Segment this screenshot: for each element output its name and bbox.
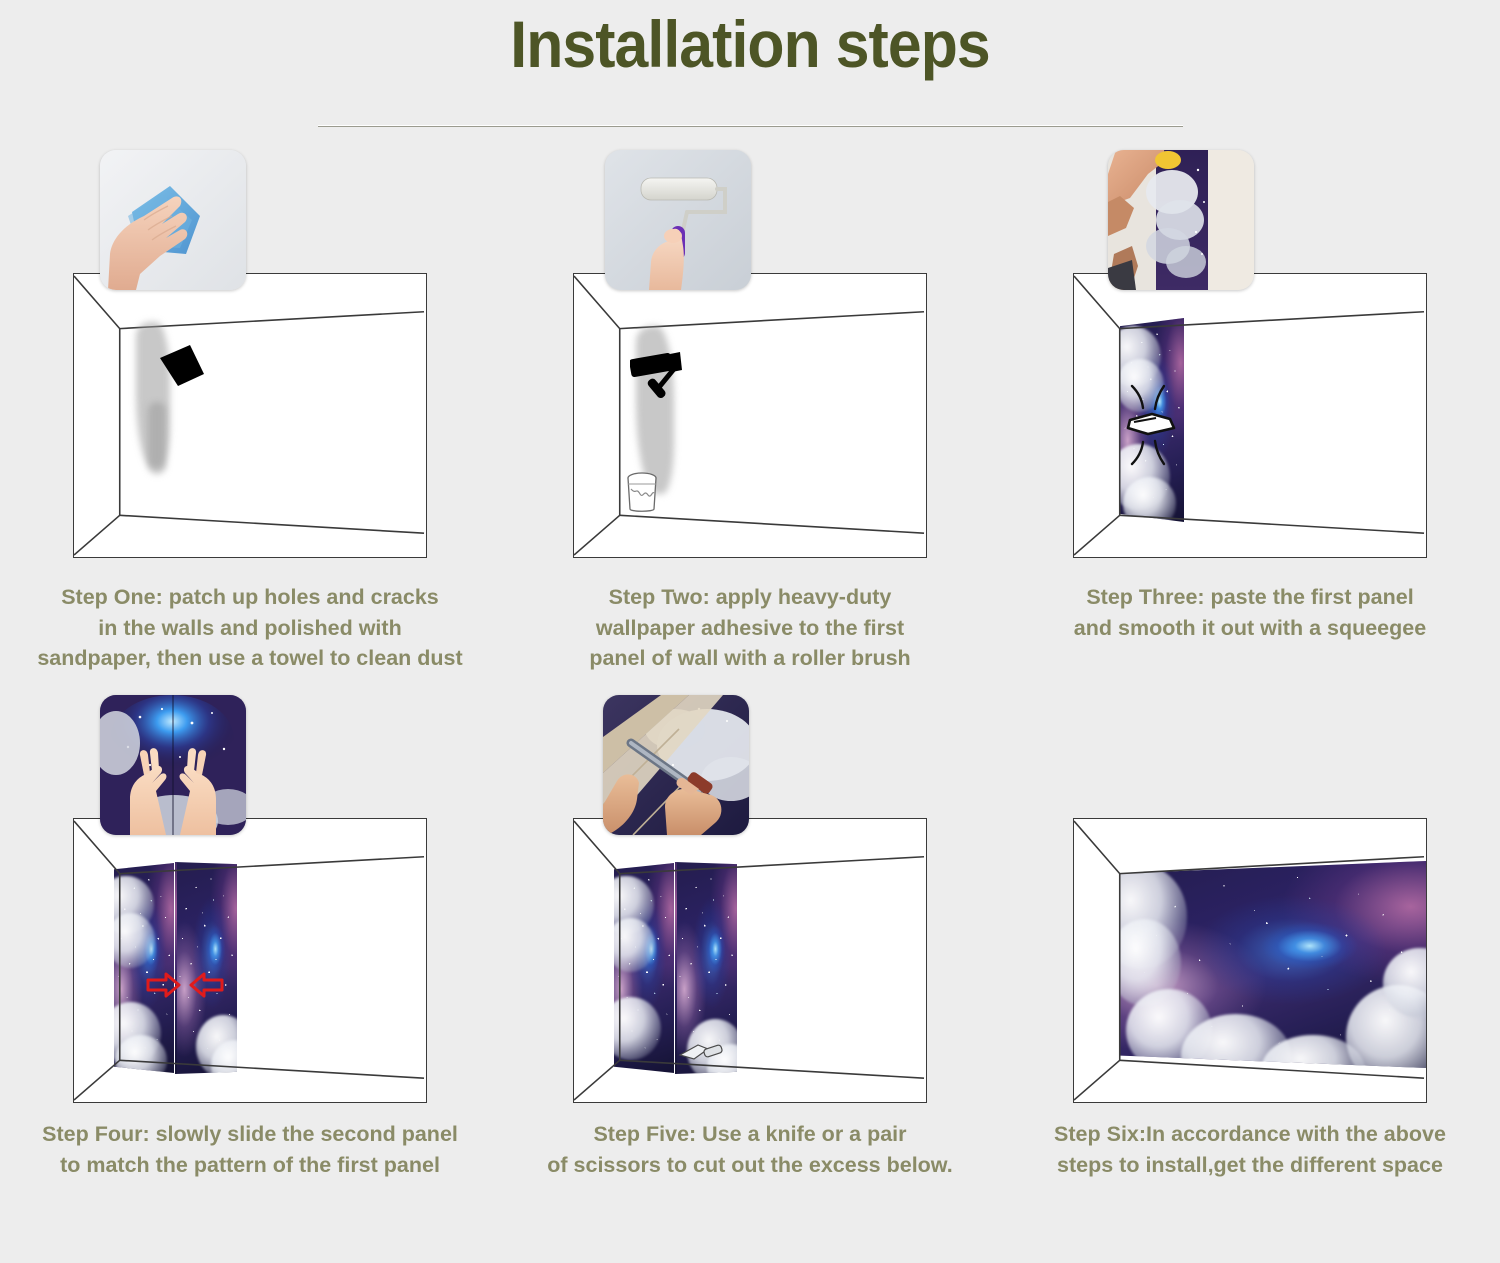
step-cell-three: Step Three: paste the first panel and sm…: [1000, 150, 1500, 695]
room-with-first-panel-diagram: [1073, 273, 1427, 558]
step-cell-six: Step Six:In accordance with the above st…: [1000, 695, 1500, 1240]
sandpaper-block-icon: [156, 344, 208, 392]
hand-holding-paint-roller-photo: [605, 150, 751, 290]
step-cell-five: Step Five: Use a knife or a pair of scis…: [500, 695, 1000, 1240]
step-four-caption: Step Four: slowly slide the second panel…: [0, 1119, 500, 1180]
room-perspective-lines: [574, 819, 926, 1102]
person-smoothing-first-panel-photo: [1108, 150, 1254, 290]
step-cell-one: Step One: patch up holes and cracks in t…: [0, 150, 500, 695]
room-with-two-panels-diagram: [73, 818, 427, 1103]
step-two-caption: Step Two: apply heavy-duty wallpaper adh…: [500, 582, 1000, 674]
room-with-trimmed-panels-diagram: [573, 818, 927, 1103]
hand-cutting-wallpaper-with-knife-photo: [603, 695, 749, 835]
panel-match-arrows: [146, 971, 224, 999]
adhesive-bucket-icon: [624, 469, 660, 515]
step-three-caption: Step Three: paste the first panel and sm…: [1000, 582, 1500, 643]
arrow-right-icon: [148, 974, 179, 996]
page-title: Installation steps: [60, 0, 1440, 79]
room-perspective-lines: [74, 819, 426, 1102]
room-perspective-lines: [1074, 819, 1426, 1102]
paint-roller-icon: [630, 340, 696, 410]
two-hands-aligning-panels-photo: [100, 695, 246, 835]
room-with-sandpaper-block-diagram: [73, 273, 427, 558]
dust-smear-tail-icon: [148, 402, 166, 474]
step-cell-four: Step Four: slowly slide the second panel…: [0, 695, 500, 1240]
squeegee-icon: [1122, 370, 1188, 480]
utility-knife-icon: [678, 1041, 724, 1063]
step-cell-two: Step Two: apply heavy-duty wallpaper adh…: [500, 150, 1000, 695]
room-perspective-lines: [74, 274, 426, 557]
arrow-left-icon: [191, 974, 222, 996]
installation-steps-page: Installation steps: [0, 0, 1500, 1263]
step-six-caption: Step Six:In accordance with the above st…: [1000, 1119, 1500, 1180]
smoothing-arc-icon: [1132, 442, 1143, 464]
step-five-caption: Step Five: Use a knife or a pair of scis…: [500, 1119, 1000, 1180]
room-with-roller-and-bucket-diagram: [573, 273, 927, 558]
hand-wiping-wall-with-blue-cloth-photo: [100, 150, 246, 290]
room-fully-covered-galaxy-mural-diagram: [1073, 818, 1427, 1103]
title-divider: [318, 125, 1183, 127]
step-one-caption: Step One: patch up holes and cracks in t…: [0, 582, 500, 674]
steps-grid: Step One: patch up holes and cracks in t…: [0, 150, 1500, 1240]
